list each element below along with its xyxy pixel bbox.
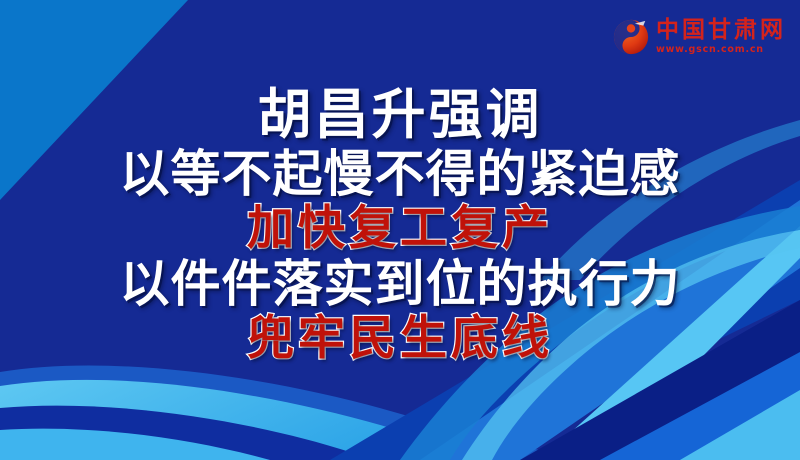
site-logo[interactable]: 中国甘肃网 www.gscn.com.cn xyxy=(612,18,786,56)
headline-line-4: 以件件落实到位的执行力 xyxy=(120,259,681,309)
logo-brand-name: 中国甘肃网 xyxy=(656,19,786,42)
headline-line-5: 兜牢民生底线 xyxy=(247,315,553,362)
headline-line-1: 胡昌升强调 xyxy=(258,88,543,142)
gansu-net-circular-logo-icon xyxy=(612,18,650,56)
headline-line-2: 以等不起慢不得的紧迫感 xyxy=(120,149,681,199)
headline-block: 胡昌升强调 以等不起慢不得的紧迫感 加快复工复产 以件件落实到位的执行力 兜牢民… xyxy=(0,88,800,362)
headline-line-3: 加快复工复产 xyxy=(247,205,553,252)
news-poster-banner: 中国甘肃网 www.gscn.com.cn 胡昌升强调 以等不起慢不得的紧迫感 … xyxy=(0,0,800,460)
logo-url: www.gscn.com.cn xyxy=(656,45,764,55)
